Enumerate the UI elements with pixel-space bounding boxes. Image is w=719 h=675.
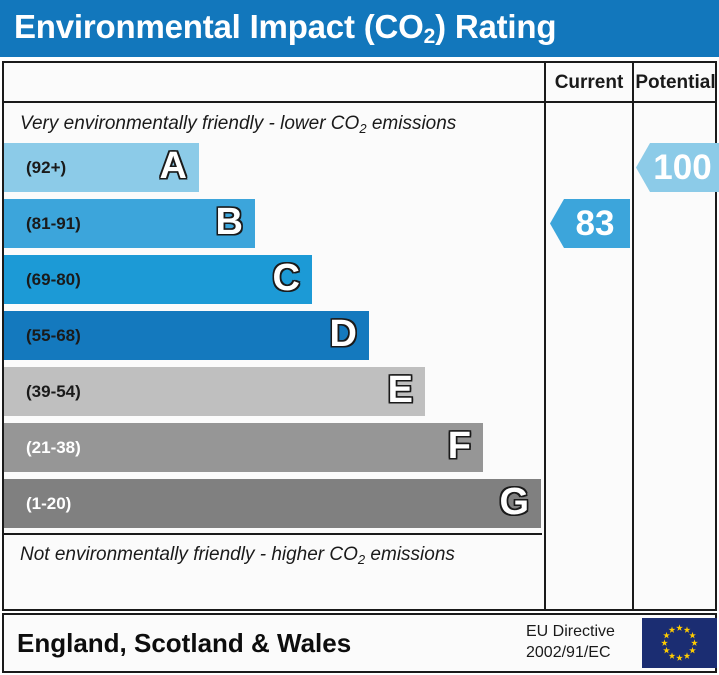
band-letter-f: F bbox=[448, 423, 471, 472]
epc-environmental-impact-chart: Environmental Impact (CO2) Rating Curren… bbox=[0, 0, 719, 675]
band-letter-g: G bbox=[499, 479, 529, 528]
column-divider-potential bbox=[632, 63, 634, 609]
band-letter-d: D bbox=[330, 311, 357, 360]
title-subscript: 2 bbox=[424, 25, 435, 48]
rating-band-f: (21-38)F bbox=[4, 423, 483, 472]
footer-region-label: England, Scotland & Wales bbox=[17, 615, 351, 671]
caption-not-friendly: Not environmentally friendly - higher CO… bbox=[4, 533, 542, 573]
band-range-f: (21-38) bbox=[26, 423, 81, 472]
column-header-potential: Potential bbox=[634, 63, 717, 103]
eu-flag-icon bbox=[642, 618, 717, 668]
band-letter-b: B bbox=[216, 199, 243, 248]
eu-directive-line2: 2002/91/EC bbox=[526, 642, 636, 663]
band-letter-a: A bbox=[160, 143, 187, 192]
potential-rating-marker: 100 bbox=[636, 143, 719, 192]
rating-band-d: (55-68)D bbox=[4, 311, 369, 360]
band-range-d: (55-68) bbox=[26, 311, 81, 360]
ratings-table: Current Potential Very environmentally f… bbox=[2, 61, 717, 611]
band-range-c: (69-80) bbox=[26, 255, 81, 304]
band-range-a: (92+) bbox=[26, 143, 66, 192]
chart-title-bar: Environmental Impact (CO2) Rating bbox=[0, 0, 719, 57]
caption-very-friendly: Very environmentally friendly - lower CO… bbox=[4, 105, 542, 143]
chart-footer: England, Scotland & Wales EU Directive 2… bbox=[2, 613, 717, 673]
column-divider-current bbox=[544, 63, 546, 609]
caption-subscript: 2 bbox=[359, 121, 366, 136]
rating-band-b: (81-91)B bbox=[4, 199, 255, 248]
page-title: Environmental Impact (CO2) Rating bbox=[14, 8, 556, 46]
eu-directive-line1: EU Directive bbox=[526, 621, 636, 642]
rating-band-c: (69-80)C bbox=[4, 255, 312, 304]
eu-directive-label: EU Directive 2002/91/EC bbox=[526, 621, 636, 663]
rating-band-a: (92+)A bbox=[4, 143, 199, 192]
rating-bands: (92+)A(81-91)B(69-80)C(55-68)D(39-54)E(2… bbox=[4, 143, 542, 533]
column-header-current: Current bbox=[546, 63, 632, 103]
caption-subscript: 2 bbox=[358, 552, 365, 567]
table-header-row: Current Potential bbox=[4, 63, 715, 103]
eu-flag-stars bbox=[642, 618, 717, 668]
current-rating-marker: 83 bbox=[550, 199, 630, 248]
rating-band-e: (39-54)E bbox=[4, 367, 425, 416]
band-range-e: (39-54) bbox=[26, 367, 81, 416]
rating-band-g: (1-20)G bbox=[4, 479, 541, 528]
band-range-g: (1-20) bbox=[26, 479, 71, 528]
band-letter-e: E bbox=[388, 367, 413, 416]
band-range-b: (81-91) bbox=[26, 199, 81, 248]
band-letter-c: C bbox=[273, 255, 300, 304]
